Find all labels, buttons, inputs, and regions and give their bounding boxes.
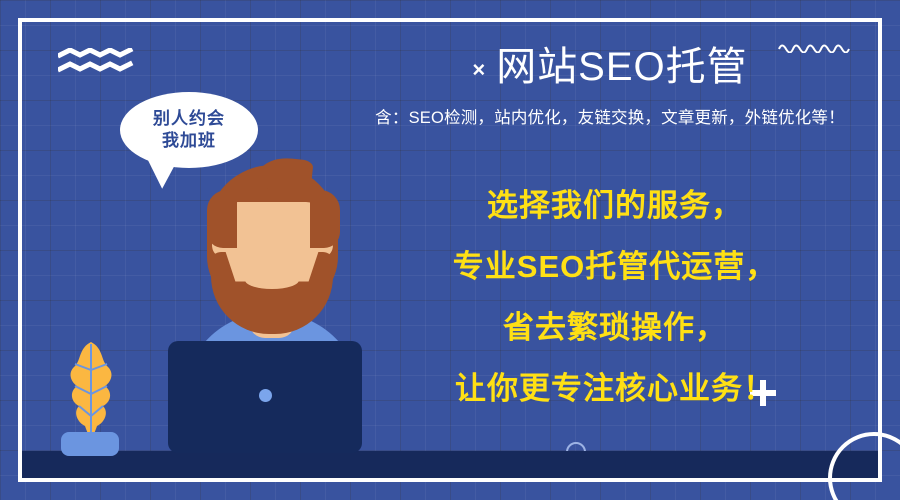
speech-bubble-line-1: 别人约会 — [153, 108, 225, 130]
speech-bubble: 别人约会 我加班 — [120, 92, 258, 168]
x-mark-glyph: × — [472, 57, 486, 82]
slogan-block: 选择我们的服务， 专业SEO托管代运营， 省去繁琐操作， 让你更专注核心业务！ — [400, 190, 830, 404]
person-hair-fringe-right — [310, 190, 340, 248]
page-subtitle: 含：SEO检测，站内优化，友链交换，文章更新，外链优化等！ — [330, 104, 890, 128]
slogan-line-2: 专业SEO托管代运营， — [400, 251, 830, 282]
circle-outline-decoration — [828, 432, 900, 500]
laptop-logo-dot-icon — [259, 389, 272, 402]
person-hair-fringe-left — [207, 190, 237, 248]
plant-pot — [61, 432, 119, 456]
speech-bubble-line-2: 我加班 — [162, 130, 216, 152]
slogan-line-1: 选择我们的服务， — [400, 190, 830, 221]
seo-hosting-banner: ×网站SEO托管 含：SEO检测，站内优化，友链交换，文章更新，外链优化等！ 选… — [0, 0, 900, 500]
page-title-text: 网站SEO托管 — [496, 45, 747, 89]
zigzag-lines-icon — [58, 48, 136, 79]
page-title: ×网站SEO托管 — [330, 44, 890, 90]
person-mouth — [245, 271, 299, 289]
desk-surface — [22, 451, 878, 478]
slogan-line-3: 省去繁琐操作， — [400, 312, 830, 343]
headline-group: ×网站SEO托管 含：SEO检测，站内优化，友链交换，文章更新，外链优化等！ — [330, 44, 890, 128]
plant-leaf-icon — [55, 340, 127, 447]
slogan-line-4: 让你更专注核心业务！ — [400, 373, 830, 404]
